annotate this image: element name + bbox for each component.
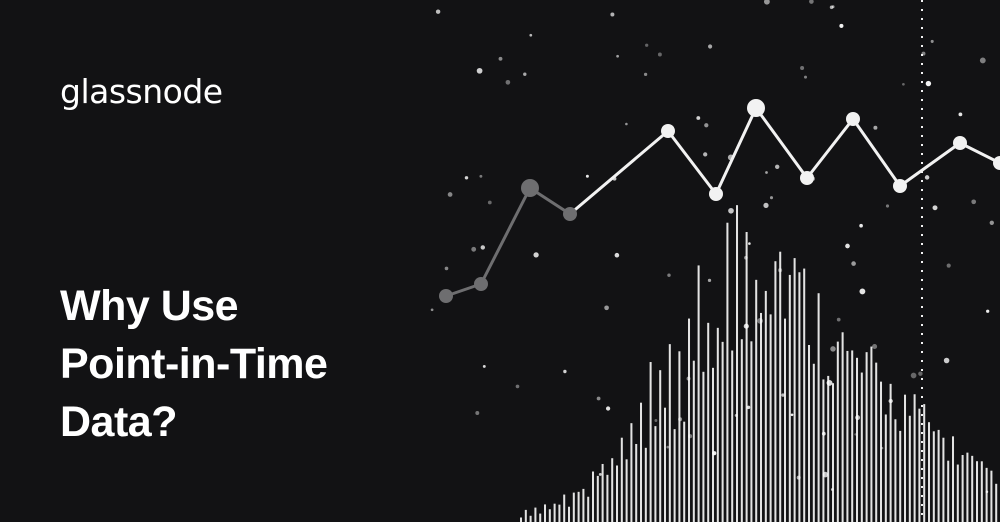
volume-bar bbox=[578, 492, 580, 522]
line-segment bbox=[756, 108, 807, 178]
volume-bar bbox=[549, 509, 551, 522]
data-point-marker bbox=[563, 207, 577, 221]
particle-dot bbox=[781, 393, 784, 396]
volume-bar bbox=[928, 422, 930, 522]
volume-bar bbox=[923, 404, 925, 522]
particle-dot bbox=[658, 53, 662, 57]
volume-bar bbox=[966, 453, 968, 522]
volume-bar bbox=[563, 495, 565, 522]
volume-bar bbox=[990, 471, 992, 522]
line-segment bbox=[570, 131, 668, 214]
data-point-marker bbox=[800, 171, 814, 185]
volume-bar bbox=[942, 438, 944, 522]
particle-dot bbox=[823, 472, 829, 478]
particle-dot bbox=[704, 123, 708, 127]
particle-dot bbox=[748, 242, 751, 245]
particle-dot bbox=[804, 76, 807, 79]
data-point-marker bbox=[439, 289, 453, 303]
volume-bar bbox=[568, 507, 570, 522]
volume-bar bbox=[592, 472, 594, 522]
data-point-marker bbox=[521, 179, 539, 197]
particle-dot bbox=[855, 415, 860, 420]
volume-bar bbox=[717, 328, 719, 522]
particle-dot bbox=[744, 324, 749, 329]
particle-dot bbox=[563, 370, 566, 373]
data-point-marker bbox=[474, 277, 488, 291]
particle-dot bbox=[886, 204, 889, 207]
volume-bar bbox=[957, 465, 959, 522]
volume-bar bbox=[712, 368, 714, 522]
data-point-marker bbox=[846, 112, 860, 126]
volume-bar bbox=[890, 384, 892, 522]
volume-bar bbox=[678, 351, 680, 522]
particle-dot bbox=[533, 252, 538, 257]
particle-dot bbox=[854, 433, 856, 435]
particle-dot bbox=[477, 68, 483, 74]
particle-dot bbox=[586, 175, 589, 178]
data-point-marker bbox=[993, 156, 1000, 170]
volume-bar bbox=[664, 408, 666, 522]
volume-bar bbox=[904, 395, 906, 522]
particle-dot bbox=[765, 171, 768, 174]
particle-dot bbox=[645, 44, 648, 47]
volume-bar bbox=[645, 448, 647, 522]
particle-dot bbox=[959, 113, 963, 117]
particle-dot bbox=[971, 199, 976, 204]
particle-dot bbox=[712, 451, 716, 455]
volume-bar bbox=[597, 476, 599, 522]
volume-bar bbox=[842, 332, 844, 522]
particle-dot bbox=[436, 9, 440, 13]
volume-bar bbox=[976, 461, 978, 522]
particle-dot bbox=[770, 196, 773, 199]
particle-dot bbox=[845, 244, 850, 249]
volume-bar bbox=[986, 468, 988, 522]
volume-bar bbox=[702, 372, 704, 522]
particle-dot bbox=[986, 310, 989, 313]
volume-bar bbox=[573, 493, 575, 522]
chart-svg bbox=[400, 0, 1000, 522]
volume-bar bbox=[688, 319, 690, 522]
volume-bar bbox=[933, 431, 935, 522]
particle-dot bbox=[873, 126, 877, 130]
data-point-marker bbox=[747, 99, 765, 117]
volume-bar bbox=[650, 362, 652, 522]
particle-dot bbox=[475, 411, 479, 415]
particle-dot bbox=[667, 273, 670, 276]
particle-dot bbox=[933, 205, 938, 210]
particle-dot bbox=[625, 123, 628, 126]
volume-bar bbox=[554, 504, 556, 522]
data-point-marker bbox=[661, 124, 675, 138]
particle-dot bbox=[800, 66, 804, 70]
particle-dot bbox=[990, 221, 994, 225]
particle-dot bbox=[644, 73, 647, 76]
volume-bar bbox=[621, 438, 623, 522]
volume-bar bbox=[822, 379, 824, 522]
volume-bar bbox=[808, 345, 810, 522]
volume-bar bbox=[746, 232, 748, 522]
volume-bar bbox=[626, 459, 628, 522]
volume-bar bbox=[736, 205, 738, 522]
particle-dot bbox=[822, 432, 826, 436]
volume-bar bbox=[784, 319, 786, 522]
volume-bar bbox=[635, 444, 637, 522]
particle-dot bbox=[523, 73, 526, 76]
volume-bar bbox=[798, 272, 800, 522]
volume-bar bbox=[654, 426, 656, 522]
particle-dot bbox=[859, 288, 865, 294]
particle-dot bbox=[687, 377, 691, 381]
particle-dot bbox=[980, 57, 986, 63]
particle-dot bbox=[830, 346, 836, 352]
volume-bar bbox=[544, 504, 546, 522]
volume-bar bbox=[760, 313, 762, 522]
volume-bar bbox=[774, 261, 776, 522]
particle-dot bbox=[666, 446, 669, 449]
volume-bar bbox=[698, 265, 700, 522]
particle-dot bbox=[859, 224, 863, 228]
volume-bar bbox=[558, 505, 560, 522]
volume-bar bbox=[779, 252, 781, 522]
volume-bar bbox=[947, 461, 949, 522]
particle-dot bbox=[483, 365, 486, 368]
line-segment bbox=[900, 143, 960, 186]
particle-dot bbox=[610, 13, 614, 17]
particle-dot bbox=[831, 488, 834, 491]
particle-dot bbox=[516, 385, 520, 389]
volume-bar bbox=[870, 347, 872, 522]
volume-bar bbox=[726, 223, 728, 522]
volume-bars-group bbox=[520, 205, 997, 522]
volume-bar bbox=[837, 342, 839, 522]
volume-bar bbox=[582, 489, 584, 522]
point-in-time-line-group bbox=[439, 99, 1000, 303]
volume-bar bbox=[813, 364, 815, 522]
particle-dot bbox=[986, 491, 989, 494]
volume-bar bbox=[674, 429, 676, 522]
particle-dot bbox=[479, 175, 482, 178]
data-point-marker bbox=[953, 136, 967, 150]
chart-graphic bbox=[400, 0, 1000, 522]
particle-dot bbox=[678, 417, 682, 421]
volume-bar bbox=[539, 514, 541, 522]
volume-bar bbox=[880, 382, 882, 522]
particle-dot bbox=[837, 318, 841, 322]
volume-bar bbox=[861, 373, 863, 522]
volume-bar bbox=[827, 376, 829, 522]
particle-dot bbox=[499, 57, 503, 61]
particle-dot bbox=[529, 34, 532, 37]
volume-bar bbox=[630, 423, 632, 522]
particle-dot bbox=[925, 175, 929, 179]
volume-bar bbox=[534, 508, 536, 522]
particle-dot bbox=[944, 358, 950, 364]
volume-bar bbox=[899, 431, 901, 522]
volume-bar bbox=[640, 403, 642, 522]
particle-dot bbox=[606, 406, 610, 410]
volume-bar bbox=[770, 314, 772, 522]
line-segment bbox=[668, 131, 716, 194]
particle-dot bbox=[431, 308, 434, 311]
volume-bar bbox=[856, 358, 858, 522]
volume-bar bbox=[995, 484, 997, 522]
volume-bar bbox=[938, 430, 940, 522]
volume-bar bbox=[832, 383, 834, 522]
particle-dot bbox=[881, 447, 883, 449]
volume-bar bbox=[981, 461, 983, 522]
particle-dot bbox=[889, 399, 893, 403]
volume-bar bbox=[616, 465, 618, 522]
page-title: Why Use Point-in-Time Data? bbox=[60, 277, 327, 451]
particle-dot bbox=[445, 267, 449, 271]
volume-bar bbox=[750, 341, 752, 522]
line-segment bbox=[716, 108, 756, 194]
volume-bar bbox=[914, 394, 916, 522]
particle-dot bbox=[764, 0, 770, 5]
volume-bar bbox=[741, 339, 743, 522]
volume-bar bbox=[803, 269, 805, 522]
volume-bar bbox=[875, 363, 877, 522]
volume-bar bbox=[851, 350, 853, 522]
particle-dot bbox=[902, 83, 905, 86]
volume-bar bbox=[918, 409, 920, 522]
particle-dot bbox=[703, 152, 707, 156]
particle-dot bbox=[708, 279, 711, 282]
volume-bar bbox=[530, 516, 532, 522]
particle-dot bbox=[851, 261, 856, 266]
particle-dot bbox=[797, 476, 801, 480]
particle-dot bbox=[471, 247, 476, 252]
volume-bar bbox=[525, 510, 527, 522]
line-segment bbox=[807, 119, 853, 178]
particle-dot bbox=[615, 253, 620, 258]
particle-dot bbox=[757, 318, 763, 324]
volume-bar bbox=[587, 497, 589, 522]
volume-bar bbox=[669, 344, 671, 522]
volume-bar bbox=[731, 351, 733, 522]
volume-bar bbox=[707, 323, 709, 522]
particle-dot bbox=[448, 192, 453, 197]
particle-dot bbox=[827, 380, 833, 386]
volume-bar bbox=[971, 456, 973, 522]
particle-dot bbox=[747, 406, 750, 409]
volume-bar bbox=[602, 464, 604, 522]
particle-dot bbox=[809, 0, 814, 4]
particle-dot bbox=[735, 414, 738, 417]
volume-bar bbox=[683, 422, 685, 522]
glassnode-logo: glassnode bbox=[60, 72, 223, 111]
particle-dot bbox=[506, 80, 511, 85]
particle-dot bbox=[839, 24, 843, 28]
particle-dot bbox=[696, 116, 700, 120]
particle-dot bbox=[488, 201, 492, 205]
particle-dot bbox=[763, 203, 768, 208]
particle-dot bbox=[778, 268, 782, 272]
volume-bar bbox=[866, 352, 868, 522]
particle-dot bbox=[911, 373, 917, 379]
volume-bar bbox=[962, 455, 964, 522]
volume-bar bbox=[794, 258, 796, 522]
volume-bar bbox=[611, 458, 613, 522]
volume-bar bbox=[789, 275, 791, 522]
particle-dot bbox=[744, 256, 748, 260]
particle-dot bbox=[599, 473, 602, 476]
particle-dot bbox=[654, 419, 657, 422]
particle-dot bbox=[688, 434, 692, 438]
particle-dot bbox=[465, 176, 468, 179]
particle-dot bbox=[604, 305, 609, 310]
volume-bar bbox=[755, 280, 757, 522]
volume-bar bbox=[659, 370, 661, 522]
volume-bar bbox=[818, 293, 820, 522]
volume-bar bbox=[722, 342, 724, 522]
particle-dot bbox=[918, 372, 922, 376]
data-point-marker bbox=[893, 179, 907, 193]
volume-bar bbox=[894, 419, 896, 522]
volume-bar bbox=[520, 518, 522, 522]
data-point-marker bbox=[709, 187, 723, 201]
volume-bar bbox=[765, 291, 767, 522]
volume-bar bbox=[693, 361, 695, 522]
particle-dot bbox=[775, 165, 779, 169]
particle-dot bbox=[931, 40, 934, 43]
volume-bar bbox=[909, 416, 911, 522]
particle-dot bbox=[926, 81, 931, 86]
volume-bar bbox=[885, 414, 887, 522]
particle-dot bbox=[830, 6, 834, 10]
particle-dot bbox=[872, 344, 877, 349]
particle-dot bbox=[791, 413, 794, 416]
volume-bar bbox=[606, 475, 608, 522]
volume-bar bbox=[846, 351, 848, 522]
particle-dot bbox=[947, 264, 951, 268]
volume-bar bbox=[952, 436, 954, 522]
particle-dot bbox=[481, 245, 485, 249]
particle-dot bbox=[597, 397, 601, 401]
particle-dot bbox=[708, 44, 712, 48]
promo-banner: glassnode Why Use Point-in-Time Data? bbox=[0, 0, 1000, 522]
particle-dot bbox=[728, 208, 734, 214]
particle-dot bbox=[616, 55, 619, 58]
